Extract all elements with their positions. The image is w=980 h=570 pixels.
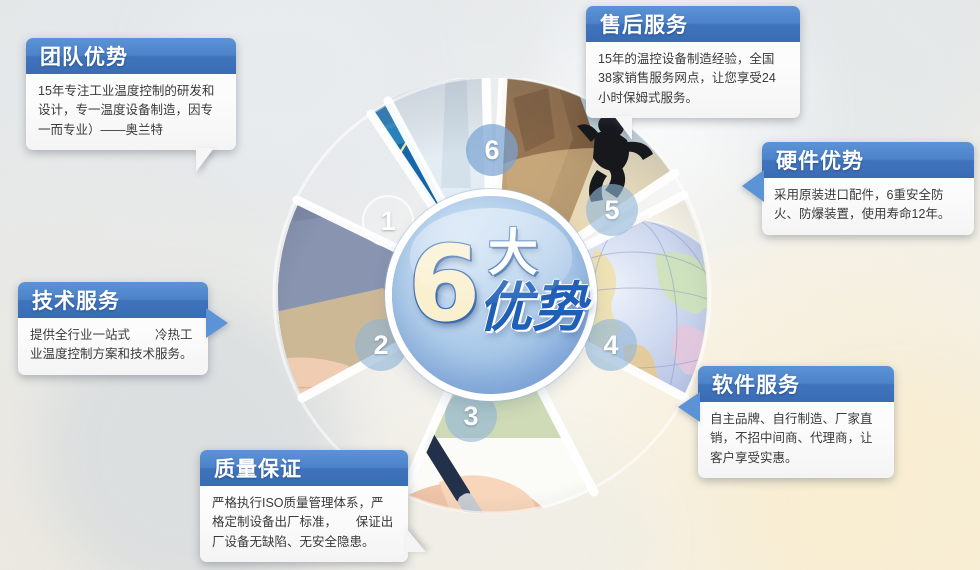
infographic-canvas: 1 2 3 4 5 6 6 大 优势 团队优势 15年专注工业温度控制的研发和设… bbox=[0, 0, 980, 570]
callout-after-sales[interactable]: 售后服务 15年的温控设备制造经验，全国38家销售服务网点，让您享受24小时保姆… bbox=[586, 6, 800, 118]
callout-hardware-advantage[interactable]: 硬件优势 采用原装进口配件，6重安全防火、防爆装置，使用寿命12年。 bbox=[762, 142, 974, 235]
callout-title: 团队优势 bbox=[26, 38, 236, 74]
center-script-text: 优势 bbox=[478, 280, 586, 334]
callout-tail bbox=[196, 148, 214, 172]
callout-body: 采用原装进口配件，6重安全防火、防爆装置，使用寿命12年。 bbox=[762, 178, 974, 235]
callout-tail bbox=[678, 392, 700, 422]
callout-tail bbox=[614, 116, 632, 140]
callout-software-service[interactable]: 软件服务 自主品牌、自行制造、厂家直销，不招中间商、代理商，让客户享受实惠。 bbox=[698, 366, 894, 478]
callout-title: 质量保证 bbox=[200, 450, 408, 486]
callout-body: 严格执行ISO质量管理体系，严格定制设备出厂标准， 保证出厂设备无缺陷、无安全隐… bbox=[200, 486, 408, 562]
wedge-badge-5[interactable]: 5 bbox=[586, 184, 638, 236]
callout-tail bbox=[406, 528, 426, 552]
callout-body: 15年专注工业温度控制的研发和设计，专一温度设备制造，因专一而专业）——奥兰特 bbox=[26, 74, 236, 150]
callout-technical-service[interactable]: 技术服务 提供全行业一站式 冷热工业温度控制方案和技术服务。 bbox=[18, 282, 208, 375]
callout-title: 硬件优势 bbox=[762, 142, 974, 178]
callout-body: 提供全行业一站式 冷热工业温度控制方案和技术服务。 bbox=[18, 318, 208, 375]
callout-title: 技术服务 bbox=[18, 282, 208, 318]
wedge-badge-3[interactable]: 3 bbox=[445, 390, 497, 442]
callout-body: 自主品牌、自行制造、厂家直销，不招中间商、代理商，让客户享受实惠。 bbox=[698, 402, 894, 478]
callout-body: 15年的温控设备制造经验，全国38家销售服务网点，让您享受24小时保姆式服务。 bbox=[586, 42, 800, 118]
callout-tail bbox=[742, 170, 764, 202]
center-number: 6 bbox=[408, 232, 480, 336]
callout-quality-guarantee[interactable]: 质量保证 严格执行ISO质量管理体系，严格定制设备出厂标准， 保证出厂设备无缺陷… bbox=[200, 450, 408, 562]
wedge-badge-6[interactable]: 6 bbox=[466, 124, 518, 176]
wedge-badge-4[interactable]: 4 bbox=[585, 319, 637, 371]
callout-title: 售后服务 bbox=[586, 6, 800, 42]
center-badge: 6 大 优势 bbox=[392, 196, 590, 394]
callout-team-advantage[interactable]: 团队优势 15年专注工业温度控制的研发和设计，专一温度设备制造，因专一而专业）—… bbox=[26, 38, 236, 150]
callout-tail bbox=[206, 308, 228, 338]
center-text-group: 6 大 优势 bbox=[392, 196, 590, 394]
center-big-char: 大 bbox=[488, 228, 538, 278]
callout-title: 软件服务 bbox=[698, 366, 894, 402]
